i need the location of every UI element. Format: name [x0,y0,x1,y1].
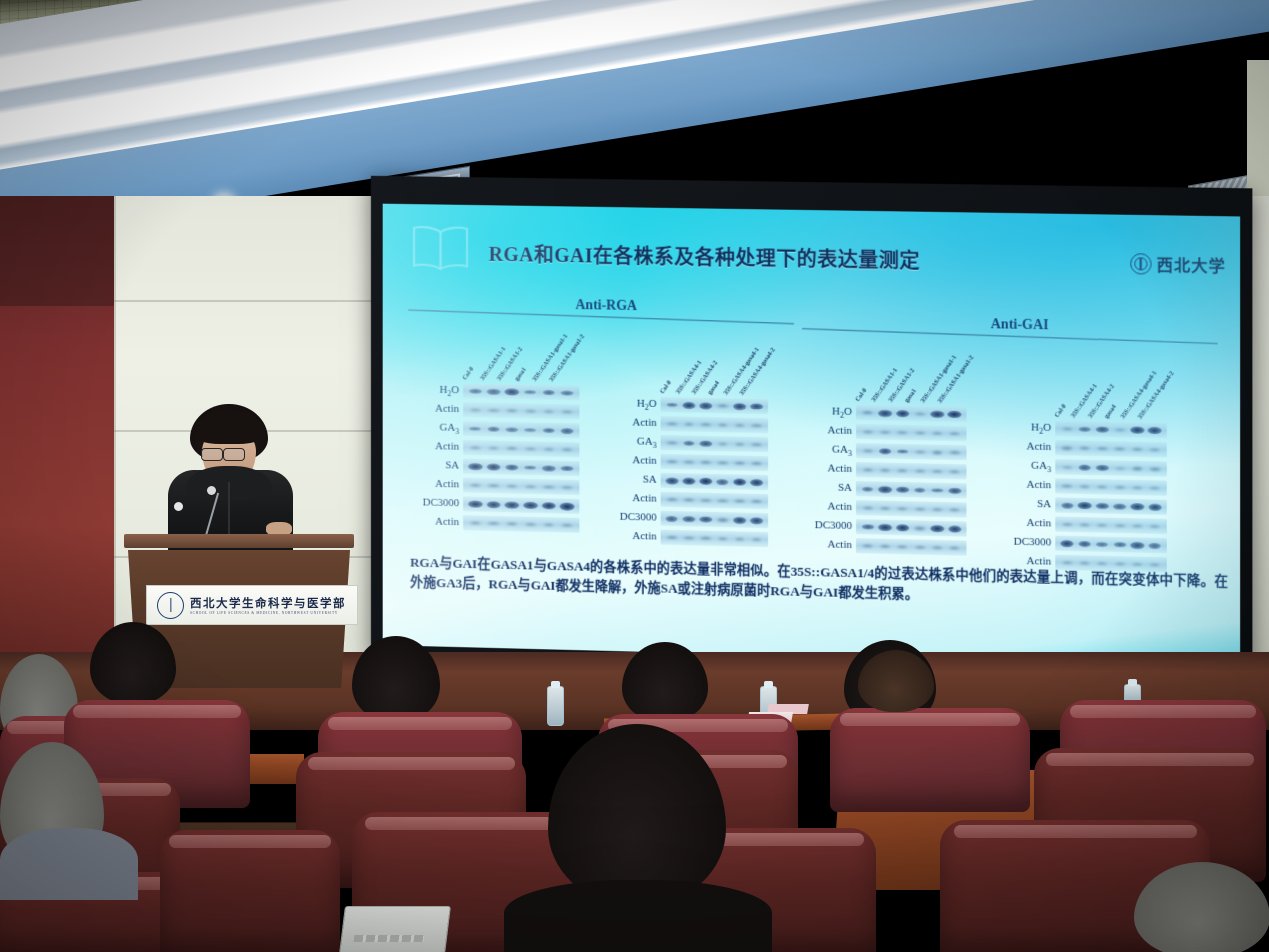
blot-band [735,442,745,446]
blot-band [735,537,745,541]
blot-row-label: Actin [400,399,459,419]
blot-row-label: SA [597,470,656,490]
blot-row [1055,514,1167,536]
blot-band [684,536,694,540]
blot-row-label: H2O [400,380,459,400]
blot-band [750,517,763,524]
lane-label: Col-0 [1054,403,1068,419]
open-book-icon [410,224,471,271]
eyeglasses-icon [223,448,245,461]
blot-band [487,426,500,432]
blot-row [463,476,579,497]
blot-row [661,414,768,435]
blot-row-label: DC3000 [597,507,656,527]
blot-row-label: DC3000 [991,532,1052,552]
water-bottle [547,686,564,726]
blot-band [752,499,762,503]
blot-row [1055,457,1167,478]
blot-band [1062,484,1072,488]
blot-band [932,469,942,473]
blot-row-label: SA [991,494,1052,514]
blot-band [561,427,574,433]
lane-label: Col-0 [461,366,475,382]
blot-band [507,484,518,488]
blot-band [525,522,536,526]
blot-band [718,499,728,503]
blot-band [543,447,554,451]
blot-band [897,545,907,549]
university-emblem-icon [1130,253,1151,275]
blot-band [543,485,554,489]
blot-band [752,424,762,428]
blot-row [1055,534,1167,556]
blot-band [523,501,538,509]
blot-band [541,502,556,510]
blot-row [1055,495,1167,517]
blot-band [1061,502,1073,508]
blot-band [525,409,536,413]
blot-row [463,381,579,402]
blot-band [915,526,926,530]
podium-sign-en: SCHOOL OF LIFE SCIENCES & MEDICINE, NORT… [190,611,346,615]
blot-row [463,513,579,535]
blot-band [879,448,892,455]
blot-band [863,544,873,548]
lane-label: Col-0 [854,387,868,403]
blot-band [932,488,943,493]
blot-row [463,438,579,459]
blot-band [1096,502,1109,509]
blot-row-label: Actin [597,488,656,508]
lane-label-group: Col-035S::GASA1-135S::GASA1-2gasa135S::G… [856,361,966,405]
blot-band [863,506,873,510]
blot-band [488,446,499,450]
blot-band [1079,446,1090,450]
lane-label-group: Col-035S::GASA1-135S::GASA1-2gasa135S::G… [463,340,579,384]
blot-band [505,464,518,471]
blot-row-label: Actin [597,526,656,546]
blot-band [1150,467,1161,471]
blot-band [468,463,482,471]
auditorium-seat[interactable] [830,708,1030,812]
blot-band [897,507,907,511]
blot-band [542,427,555,433]
blot-band [666,477,679,484]
blot-band [914,487,926,493]
blot-band [931,525,945,533]
blot-row-label: H2O [792,402,852,422]
microphone-icon [207,486,216,495]
blot-band [733,478,746,486]
blot-row [856,460,966,481]
blot-band [880,544,890,548]
blot-row-label: GA3 [597,432,656,452]
blot-row-label: Actin [597,451,656,471]
blot-row [661,433,768,454]
blot-band [486,501,500,509]
blot-band [1079,523,1089,527]
blot-band [718,461,728,465]
section-header-anti-gai: Anti-GAI [991,317,1049,334]
blot-band [1114,447,1125,451]
blot-band [1062,522,1072,526]
podium-sign-cn: 西北大学生命科学与医学部 [190,595,346,611]
blot-band [862,524,874,530]
blot-band [506,446,517,450]
blot-band [667,535,677,539]
blot-row [463,457,579,478]
blot-band [667,498,677,502]
blot-row-label: GA3 [991,456,1052,476]
blot-band [469,426,481,431]
blot-band [950,470,960,474]
blot-band [915,507,925,511]
blot-band [949,450,960,454]
speaker-person [168,404,293,574]
presentation-screen[interactable]: RGA和GAI在各株系及各种处理下的表达量测定 西北大学 Anti-RGA An… [371,176,1252,680]
jacket-badge-icon [174,502,183,511]
blot-row [856,517,966,539]
audience-shoulders [0,828,138,900]
blot-band [880,430,890,434]
blot-row [856,479,966,500]
lane-label-group: Col-035S::GASA4-135S::GASA4-2gasa435S::G… [1055,377,1167,421]
blot-panel-anti-rga-gasa4: Col-035S::GASA4-135S::GASA4-2gasa435S::G… [661,395,768,549]
blot-row-label-group: H2OActinGA3ActinSAActinDC3000Actin [597,394,660,547]
blot-band [701,536,711,540]
slide-surface: RGA和GAI在各株系及各种处理下的表达量测定 西北大学 Anti-RGA An… [383,204,1240,667]
blot-band [862,486,874,491]
blot-band [684,498,694,502]
laptop-device[interactable] [339,906,451,952]
blot-band [543,523,554,527]
blot-band [542,389,555,395]
blot-band [880,506,890,510]
blot-row-label: DC3000 [400,493,459,513]
blot-band [733,516,746,523]
slide: RGA和GAI在各株系及各种处理下的表达量测定 西北大学 Anti-RGA An… [383,204,1240,667]
blot-band [505,501,519,509]
blot-row-label: Actin [792,497,852,517]
wall-seam [114,300,372,302]
blot-row [463,494,579,515]
blot-band [524,465,536,470]
blot-band [666,515,678,521]
blot-band [1062,561,1072,565]
blot-band [950,432,960,436]
blot-band [1150,524,1160,528]
blot-panel-anti-gai-gasa4: Col-035S::GASA4-135S::GASA4-2gasa435S::G… [1055,419,1167,575]
blot-band [863,430,873,434]
blot-band [699,402,712,409]
blot-band [1097,447,1107,451]
blot-row-label: SA [792,478,852,498]
jacket-zipper [228,482,230,540]
blot-band [699,477,712,485]
blot-row-label: DC3000 [792,516,852,536]
blot-band [487,388,500,394]
blot-band [735,461,745,465]
blot-band [948,410,962,418]
blot-band [488,521,499,525]
blot-row-label: GA3 [792,440,852,460]
blot-band [470,408,481,412]
blot-band [948,487,961,494]
blot-band [950,546,960,550]
blot-band [752,443,762,447]
blot-row [661,395,768,416]
eyeglasses-icon [201,448,223,461]
blot-band [468,500,483,508]
slide-title: RGA和GAI在各株系及各种处理下的表达量测定 [489,238,920,274]
blot-row [661,509,768,530]
blot-band [752,461,762,465]
blot-band [1078,501,1092,509]
blot-band [1114,542,1126,548]
university-logo: 西北大学 [1130,251,1226,277]
blot-band [718,537,728,541]
blot-band [915,469,925,473]
blot-band [1079,561,1089,565]
blot-band [701,498,711,502]
blot-band [1078,540,1091,547]
university-name: 西北大学 [1157,252,1226,277]
blot-band [488,484,499,488]
blot-band [1097,485,1107,489]
lane-label: gasa4 [1103,404,1118,420]
blot-band [488,408,499,412]
blot-panel-anti-gai-gasa1: Col-035S::GASA1-135S::GASA1-2gasa135S::G… [856,403,966,558]
blot-row-label: GA3 [400,418,459,438]
blot-row [661,452,768,473]
blot-row-label: Actin [400,474,459,494]
blot-band [735,423,745,427]
blot-row [856,498,966,519]
audience-shoulders [504,880,772,952]
blot-row [1055,419,1167,440]
blot-row-label-group: H2OActinGA3ActinSAActinDC3000Actin [792,402,856,555]
blot-band [950,508,960,512]
blot-band [735,499,745,503]
side-wall-maroon-shade [0,196,118,306]
blot-row-label: Actin [792,421,852,441]
blot-band [561,465,574,471]
blot-band [897,431,907,435]
blot-band [1148,503,1162,511]
blot-row [1055,476,1167,498]
blot-band [562,448,573,452]
blot-band [862,411,872,415]
blot-band [1096,426,1109,433]
section-header-anti-rga: Anti-RGA [575,298,637,315]
blot-row [856,441,966,462]
blot-band [667,460,677,464]
blot-band [560,502,575,510]
blot-row [856,403,966,424]
blot-row-label: Actin [597,413,656,433]
blot-band [1148,426,1162,434]
blot-band [506,409,517,413]
blot-row-label: Actin [991,475,1052,495]
blot-band [1097,523,1107,527]
blot-band [470,521,481,525]
blot-band [896,524,910,532]
blot-band [667,402,678,407]
blot-row-label: Actin [400,437,459,457]
blot-band [701,460,711,464]
blot-band [733,402,746,409]
blot-band [1115,485,1125,489]
blot-row-label: Actin [991,513,1052,533]
blot-row-label: H2O [991,418,1052,438]
blot-band [896,486,909,493]
lane-label-group: Col-035S::GASA4-135S::GASA4-2gasa435S::G… [661,353,768,397]
blot-band [1130,426,1144,434]
lane-label: Col-0 [659,379,673,395]
blot-band [684,460,694,464]
blot-band [1132,447,1143,451]
blot-band [701,423,711,427]
blot-band [880,468,890,472]
blot-row [661,528,768,549]
blot-band [667,422,677,426]
auditorium-seat[interactable] [160,830,340,952]
blot-row [661,490,768,511]
blot-band [932,546,942,550]
blot-row-label: H2O [597,394,656,414]
blot-band [1079,484,1089,488]
blot-row-label: Actin [792,459,852,479]
blot-band [469,388,482,394]
blot-band [470,483,481,487]
blot-band [684,422,694,426]
blot-panel-anti-rga-gasa1: Col-035S::GASA1-135S::GASA1-2gasa135S::G… [463,381,579,534]
blot-row [856,422,966,443]
blot-band [542,465,555,471]
blot-band [525,485,536,489]
podium-sign: 西北大学生命科学与医学部 SCHOOL OF LIFE SCIENCES & M… [146,585,358,625]
blot-band [718,404,728,408]
podium-top [124,534,354,548]
blot-band [667,441,677,445]
blot-band [897,469,907,473]
blot-band [1115,524,1125,528]
blot-band [1096,464,1109,471]
lane-label: gasa1 [514,366,528,382]
blot-band [506,522,517,526]
blot-band [718,423,728,427]
blot-band [562,523,573,527]
blot-band [561,390,573,396]
blot-band [896,409,910,417]
blot-row-label: Actin [991,437,1052,457]
blot-band [1062,427,1072,431]
blot-band [1149,542,1161,548]
blot-row [856,536,966,558]
blot-band [1132,524,1142,528]
lane-label: gasa4 [707,380,721,396]
lecture-hall-photo: RGA和GAI在各株系及各种处理下的表达量测定 西北大学 Anti-RGA An… [0,0,1269,952]
blot-band [700,516,712,523]
blot-band [1115,466,1125,469]
blot-band [1132,486,1142,490]
blot-band [562,410,573,414]
blot-band [863,468,873,472]
blot-band [1130,503,1144,511]
blot-row-label-group: H2OActinGA3ActinSAActinDC3000Actin [400,380,463,532]
school-emblem-icon [157,592,184,619]
blot-band [470,446,481,450]
blot-band [717,479,729,485]
blot-band [750,479,763,487]
blot-band [562,485,573,489]
blot-band [932,450,943,454]
blot-row-label: Actin [792,535,852,555]
blot-row [463,400,579,421]
blot-band [750,403,763,410]
blot-band [752,537,762,541]
blot-band [1150,486,1160,490]
audience-head [858,650,934,712]
blot-band [506,427,518,433]
blot-band [1150,448,1160,452]
blot-band [915,545,925,549]
blot-row-label-group: H2OActinGA3ActinSAActinDC3000Actin [991,418,1056,572]
blot-band [524,390,536,395]
blot-band [1062,446,1073,450]
blot-band [525,427,537,432]
blot-row [661,471,768,492]
lane-label: gasa1 [903,388,917,404]
blot-row [463,419,579,440]
blot-band [863,449,873,453]
blot-row-label: SA [400,455,459,475]
blot-row-label: Actin [400,512,459,532]
blot-band [932,507,942,511]
blot-row [1055,438,1167,459]
